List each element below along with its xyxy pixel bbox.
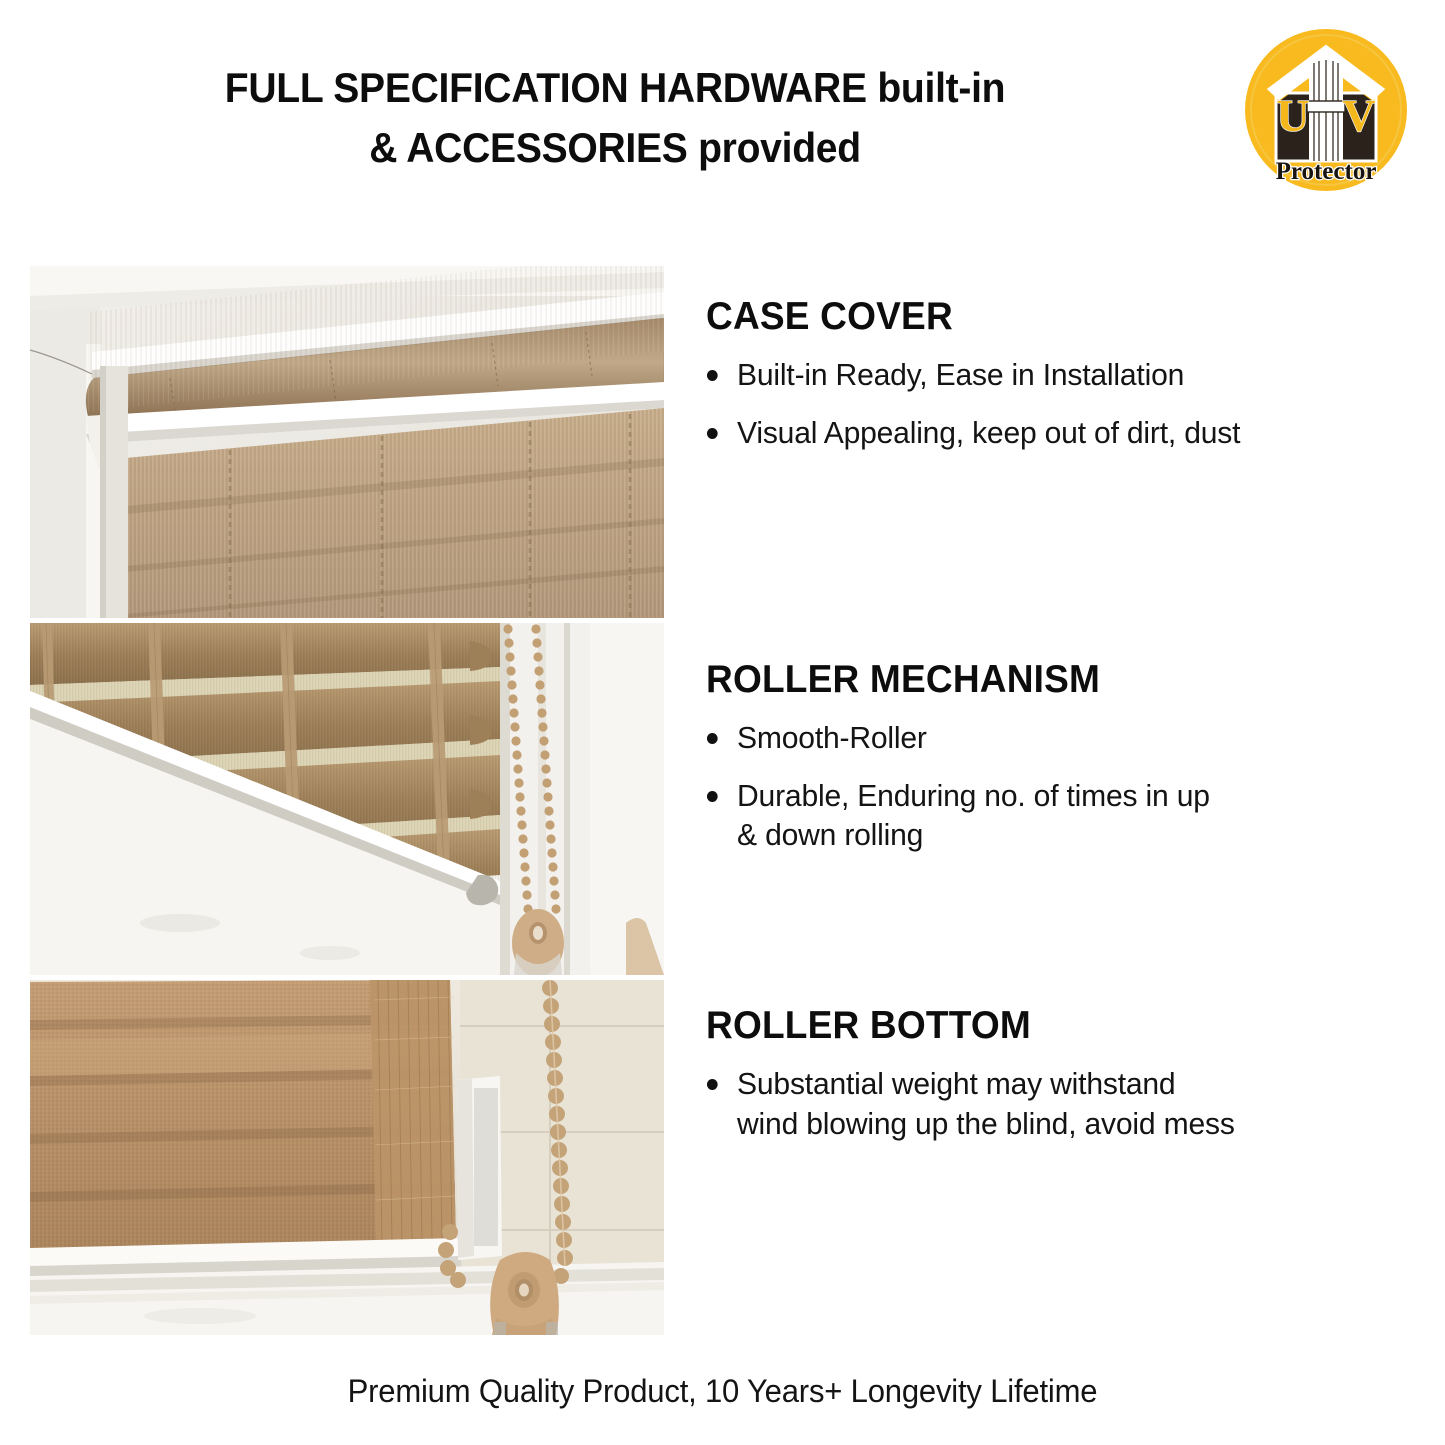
feature-bullets-case-cover: Built-in Ready, Ease in Installation Vis…	[706, 355, 1416, 452]
feature-bullets-roller-mechanism: Smooth-Roller Durable, Enduring no. of t…	[706, 718, 1416, 855]
svg-text:U: U	[1276, 90, 1309, 141]
list-item: Durable, Enduring no. of times in up & d…	[706, 776, 1395, 855]
footer-tagline: Premium Quality Product, 10 Years+ Longe…	[348, 1372, 1098, 1410]
roller-bottom-photo	[30, 980, 664, 1335]
page-title: FULL SPECIFICATION HARDWARE built-in & A…	[99, 58, 1131, 177]
bullet-text-line-1: Durable, Enduring no. of times in up	[737, 776, 1395, 816]
page-title-line-2: & ACCESSORIES provided	[99, 118, 1131, 178]
feature-section-roller-bottom: ROLLER BOTTOM Substantial weight may wit…	[706, 1005, 1416, 1143]
bullet-dot-icon	[707, 733, 718, 744]
feature-heading-roller-mechanism: ROLLER MECHANISM	[706, 659, 1381, 702]
feature-heading-roller-bottom: ROLLER BOTTOM	[706, 1005, 1381, 1048]
uv-protector-logo-icon: U V Protector	[1243, 27, 1409, 193]
bullet-dot-icon	[707, 428, 718, 439]
svg-text:Protector: Protector	[1276, 158, 1377, 185]
feature-heading-case-cover: CASE COVER	[706, 296, 1381, 339]
page-title-line-1: FULL SPECIFICATION HARDWARE built-in	[99, 58, 1131, 118]
bullet-text-line-2: wind blowing up the blind, avoid mess	[737, 1104, 1395, 1144]
bullet-text: Durable, Enduring no. of times in up & d…	[737, 776, 1395, 855]
bullet-text: Visual Appealing, keep out of dirt, dust	[737, 413, 1395, 453]
roller-mechanism-photo	[30, 623, 664, 975]
bullet-dot-icon	[707, 370, 718, 381]
bullet-text: Substantial weight may withstand wind bl…	[737, 1064, 1395, 1143]
bullet-text: Built-in Ready, Ease in Installation	[737, 355, 1395, 395]
header-banner: FULL SPECIFICATION HARDWARE built-in & A…	[0, 0, 1445, 250]
bullet-dot-icon	[707, 791, 718, 802]
feature-section-case-cover: CASE COVER Built-in Ready, Ease in Insta…	[706, 296, 1416, 452]
footer-banner: Premium Quality Product, 10 Years+ Longe…	[0, 1372, 1445, 1410]
bullet-text-line-2: & down rolling	[737, 815, 1395, 855]
bullet-dot-icon	[707, 1079, 718, 1090]
bullet-text: Smooth-Roller	[737, 718, 1395, 758]
feature-bullets-roller-bottom: Substantial weight may withstand wind bl…	[706, 1064, 1416, 1143]
svg-text:V: V	[1342, 90, 1375, 141]
list-item: Visual Appealing, keep out of dirt, dust	[706, 413, 1395, 453]
bullet-text-line-1: Substantial weight may withstand	[737, 1064, 1395, 1104]
list-item: Smooth-Roller	[706, 718, 1395, 758]
case-cover-photo	[30, 266, 664, 618]
list-item: Built-in Ready, Ease in Installation	[706, 355, 1395, 395]
feature-section-roller-mechanism: ROLLER MECHANISM Smooth-Roller Durable, …	[706, 659, 1416, 855]
list-item: Substantial weight may withstand wind bl…	[706, 1064, 1395, 1143]
